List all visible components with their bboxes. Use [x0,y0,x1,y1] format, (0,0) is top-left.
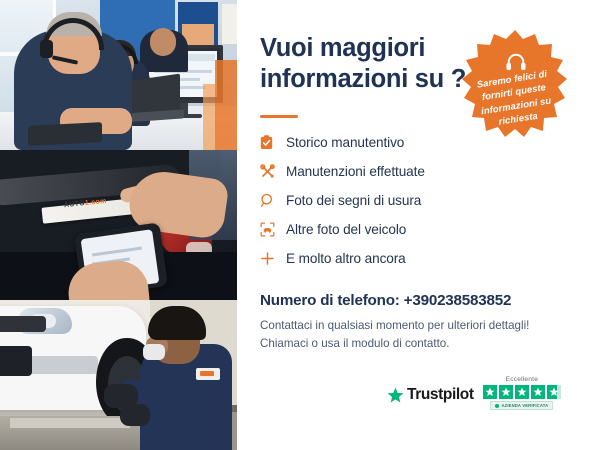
list-item-label: Altre foto del veicolo [286,222,406,237]
feature-list: Storico manutentivo Manutenzioni effettu… [260,128,520,273]
photo-column: AUTO1.com [0,0,237,450]
list-item-altre-foto-veicolo: Altre foto del veicolo [260,215,520,244]
list-item-foto-segni-usura: Foto dei segni di usura [260,186,520,215]
list-item-molto-altro: E molto altro ancora [260,244,520,273]
callout-badge: Saremo felici di fornirti queste informa… [459,28,571,140]
phone-number[interactable]: Numero di telefono: +390238583852 [260,292,511,309]
mechanic-glove-2-decor [120,404,150,426]
verified-company-label: AZIENDA VERIFICATA [501,403,548,408]
contact-line-1: Contattaci in qualsiasi momento per ulte… [260,317,540,335]
title-underline-rule [260,115,298,118]
mechanic-wheel-photo [0,300,237,450]
agent-3-head-decor [150,28,176,56]
plus-icon [260,249,286,269]
wrench-screwdriver-icon [260,162,286,182]
agent-1-earcup-decor [40,40,53,58]
car-lift-arm-decor [10,418,130,428]
list-item-label: E molto altro ancora [286,251,406,266]
star-filled-icon [499,385,514,400]
car-inspection-photo: AUTO1.com [0,150,237,300]
star-filled-icon [515,385,530,400]
content-panel: Vuoi maggiori informazioni su ? Saremo f… [237,0,600,450]
trustpilot-wordmark: Trustpilot [407,386,474,404]
tablet-decor [28,122,102,146]
magnifier-icon [260,191,286,211]
contact-line-2: Chiamaci o usa il modulo di contatto. [260,335,540,353]
mechanic-mask-decor [143,344,165,360]
trustpilot-rating-label: Eccellente [506,376,538,383]
verified-check-icon [495,404,499,408]
car-scan-icon [260,220,286,240]
board-decor [222,4,237,44]
headset-icon [505,52,527,72]
trustpilot-logo: Trustpilot [387,386,474,404]
trustpilot-widget[interactable]: Trustpilot Eccellente [387,370,583,416]
trustpilot-rating: Eccellente [483,376,562,410]
trustpilot-star-icon [387,387,404,404]
air-intake-decor [0,346,32,376]
list-item-label: Storico manutentivo [286,135,404,150]
verified-company-badge: AZIENDA VERIFICATA [490,401,553,410]
orange-object-2-decor [203,84,215,150]
orange-object-decor [215,60,237,150]
list-item-label: Manutenzioni effettuate [286,164,425,179]
promo-banner: AUTO1.com [0,0,600,450]
uniform-logo-decor [196,368,220,380]
clipboard-check-icon [260,133,286,153]
contact-text: Contattaci in qualsiasi momento per ulte… [260,317,540,353]
star-partial-icon [547,385,562,400]
star-filled-icon [531,385,546,400]
list-item-manutenzioni-effettuate: Manutenzioni effettuate [260,157,520,186]
list-item-storico-manutentivo: Storico manutentivo [260,128,520,157]
list-item-label: Foto dei segni di usura [286,193,421,208]
call-center-agents-photo [0,0,237,150]
upper-grille-decor [0,316,46,332]
trustpilot-stars [483,385,562,400]
star-filled-icon [483,385,498,400]
